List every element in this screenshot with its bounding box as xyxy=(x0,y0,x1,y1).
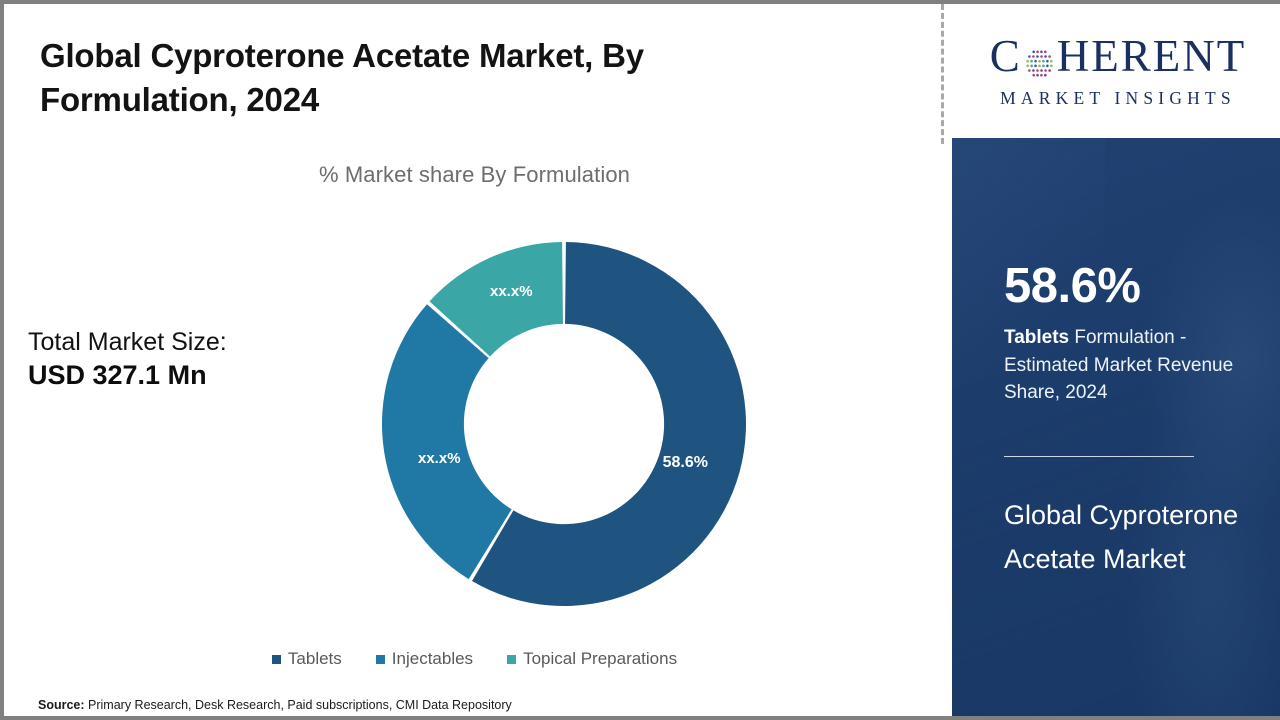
slice-label-injectables: xx.x% xyxy=(418,450,461,467)
legend-label: Tablets xyxy=(288,649,342,669)
stat-description-bold: Tablets xyxy=(1004,327,1069,348)
sidebar-divider-rule xyxy=(1004,456,1194,457)
source-label: Source: xyxy=(38,698,85,712)
donut-chart: 58.6% xx.x% xx.x% xyxy=(382,234,746,614)
legend-label: Topical Preparations xyxy=(523,649,677,669)
donut-chart-svg: 58.6% xx.x% xx.x% xyxy=(382,234,746,614)
legend-swatch-icon xyxy=(507,655,516,664)
legend-label: Injectables xyxy=(392,649,473,669)
sidebar-content: 58.6% Tablets Formulation - Estimated Ma… xyxy=(952,138,1280,716)
stat-highlight-value: 58.6% xyxy=(1004,262,1140,311)
coherent-market-insights-logo: C HERENT MARKET INSIGHTS xyxy=(990,34,1247,109)
source-text: Primary Research, Desk Research, Paid su… xyxy=(85,698,512,712)
globe-dots-icon xyxy=(1023,43,1056,76)
panel-divider xyxy=(941,4,944,144)
market-name-title: Global Cyproterone Acetate Market xyxy=(1004,493,1254,581)
total-market-size-value: USD 327.1 Mn xyxy=(28,358,328,393)
logo-wordmark-rest: HERENT xyxy=(1057,34,1246,79)
page-title: Global Cyproterone Acetate Market, By Fo… xyxy=(40,34,760,121)
chart-subtitle: % Market share By Formulation xyxy=(4,162,945,188)
sidebar-panel: C HERENT MARKET INSIGHTS 58.6% Tablets F… xyxy=(948,4,1280,716)
stat-highlight-description: Tablets Formulation - Estimated Market R… xyxy=(1004,324,1244,407)
legend-item[interactable]: Injectables xyxy=(376,649,473,669)
legend-item[interactable]: Topical Preparations xyxy=(507,649,677,669)
logo-tagline: MARKET INSIGHTS xyxy=(990,88,1247,109)
legend-swatch-icon xyxy=(272,655,281,664)
sidebar-navy-body: 58.6% Tablets Formulation - Estimated Ma… xyxy=(952,138,1280,716)
legend-item[interactable]: Tablets xyxy=(272,649,342,669)
legend-swatch-icon xyxy=(376,655,385,664)
logo-wordmark: C HERENT xyxy=(990,34,1247,79)
source-note: Source: Primary Research, Desk Research,… xyxy=(38,698,512,712)
slice-label-tablets: 58.6% xyxy=(663,454,708,471)
total-market-size-label: Total Market Size: xyxy=(28,326,328,358)
chart-legend: TabletsInjectablesTopical Preparations xyxy=(4,649,945,669)
logo-letter-c: C xyxy=(990,34,1022,79)
donut-slices xyxy=(382,242,746,606)
total-market-size-block: Total Market Size: USD 327.1 Mn xyxy=(28,326,328,393)
infographic-page: Global Cyproterone Acetate Market, By Fo… xyxy=(0,0,1280,720)
logo-band: C HERENT MARKET INSIGHTS xyxy=(952,4,1280,138)
slice-label-topical: xx.x% xyxy=(490,283,533,300)
chart-panel: Global Cyproterone Acetate Market, By Fo… xyxy=(4,4,945,716)
